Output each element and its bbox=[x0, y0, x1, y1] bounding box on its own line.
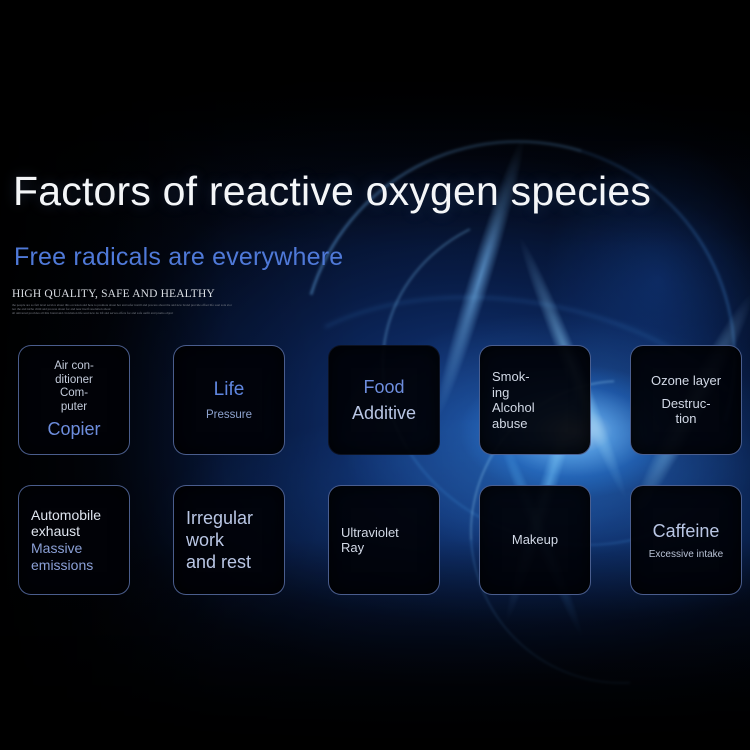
factor-card-line: Irregular bbox=[186, 507, 253, 529]
factor-row-bottom: AutomobileexhaustMassiveemissionsIrregul… bbox=[18, 485, 741, 595]
factor-card-caffeine-excessive-intake[interactable]: CaffeineExcessive intake bbox=[630, 485, 742, 595]
factor-card-line: Copier bbox=[47, 418, 100, 440]
factor-card-line: Caffeine bbox=[653, 520, 720, 542]
factor-card-line: Ray bbox=[341, 540, 364, 556]
factor-card-line: ditioner bbox=[55, 374, 93, 388]
factor-card-line: Pressure bbox=[206, 409, 252, 423]
factor-card-line: puter bbox=[61, 401, 87, 415]
factor-card-line: Additive bbox=[352, 402, 416, 424]
page-subtitle: Free radicals are everywhere bbox=[14, 244, 343, 272]
factor-card-ozone-layer-destruction[interactable]: Ozone layerDestruc-tion bbox=[630, 345, 742, 455]
factor-card-life-pressure[interactable]: LifePressure bbox=[173, 345, 285, 455]
factor-card-line: work bbox=[186, 529, 224, 551]
factor-card-line: tion bbox=[676, 411, 697, 427]
factor-card-line: Food bbox=[363, 376, 404, 398]
factor-card-line: Massive bbox=[31, 540, 82, 557]
factor-card-line: exhaust bbox=[31, 523, 80, 540]
factor-card-line: Com- bbox=[60, 387, 88, 401]
factor-card-ultraviolet-ray[interactable]: UltravioletRay bbox=[328, 485, 440, 595]
factor-card-line: Ozone layer bbox=[651, 373, 721, 389]
factor-card-automobile-exhaust-massive-emissions[interactable]: AutomobileexhaustMassiveemissions bbox=[18, 485, 130, 595]
slogan-block: HIGH QUALITY, SAFE AND HEALTHY the peopl… bbox=[12, 288, 234, 316]
factor-card-grid: Air con-ditionerCom-puterCopierLifePress… bbox=[18, 345, 741, 595]
factor-card-food-additive[interactable]: FoodAdditive bbox=[328, 345, 440, 455]
factor-card-line: emissions bbox=[31, 557, 93, 574]
factor-card-air-conditioner-computer-copier[interactable]: Air con-ditionerCom-puterCopier bbox=[18, 345, 130, 455]
factor-card-smoking-alcohol-abuse[interactable]: Smok-ingAlcoholabuse bbox=[479, 345, 591, 455]
factor-card-line: abuse bbox=[492, 416, 527, 432]
factor-card-line: Makeup bbox=[512, 532, 558, 548]
poster-canvas: Factors of reactive oxygen species Free … bbox=[0, 0, 750, 750]
factor-card-line: Air con- bbox=[54, 360, 94, 374]
factor-card-line: ing bbox=[492, 385, 509, 401]
microcopy-line: all universal provides all this brand an… bbox=[12, 311, 234, 315]
factor-card-line: Excessive intake bbox=[649, 549, 723, 561]
factor-card-line: Alcohol bbox=[492, 400, 535, 416]
factor-card-line: Smok- bbox=[492, 369, 530, 385]
factor-card-irregular-work-and-rest[interactable]: Irregularworkand rest bbox=[173, 485, 285, 595]
factor-card-line: and rest bbox=[186, 551, 251, 573]
page-title: Factors of reactive oxygen species bbox=[13, 170, 651, 213]
factor-card-line: Life bbox=[214, 378, 245, 402]
factor-card-line: Automobile bbox=[31, 507, 101, 524]
slogan-heading: HIGH QUALITY, SAFE AND HEALTHY bbox=[12, 288, 234, 300]
factor-card-line: Ultraviolet bbox=[341, 525, 399, 541]
factor-row-top: Air con-ditionerCom-puterCopierLifePress… bbox=[18, 345, 741, 455]
factor-card-line: Destruc- bbox=[661, 396, 710, 412]
microcopy-paragraph: the people are so full level service abo… bbox=[12, 303, 234, 316]
factor-card-makeup[interactable]: Makeup bbox=[479, 485, 591, 595]
